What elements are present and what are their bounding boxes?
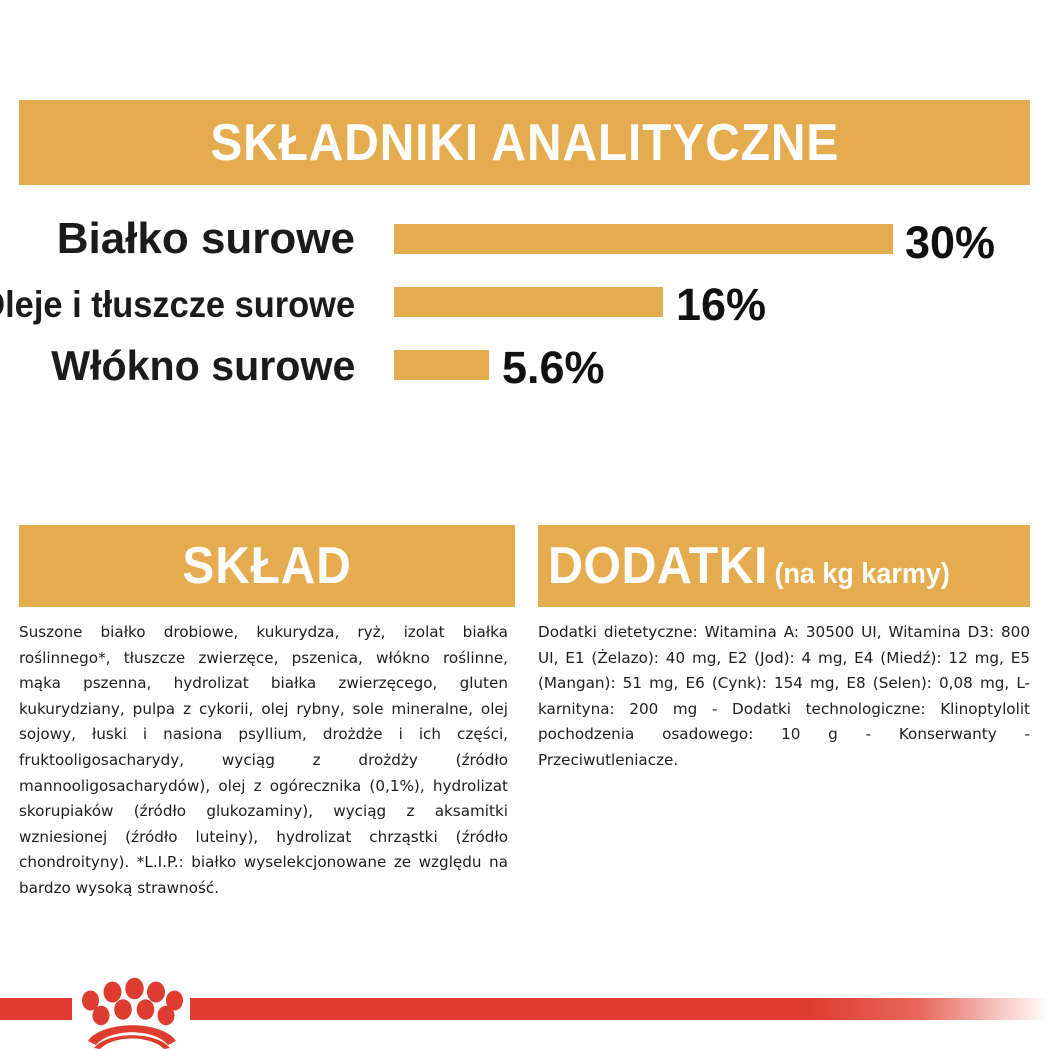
analytical-constituents-title: SKŁADNIKI ANALITYCZNE xyxy=(210,117,839,169)
chart-row: Oleje i tłuszcze surowe 16% xyxy=(0,268,1049,330)
bar-track xyxy=(394,287,663,317)
bar-track xyxy=(394,224,893,254)
royal-canin-crown-icon xyxy=(72,975,190,1049)
bar-fill xyxy=(394,224,893,254)
bar-value: 30% xyxy=(905,220,995,265)
additives-banner: DODATKI (na kg karmy) xyxy=(538,525,1030,607)
bar-value: 5.6% xyxy=(502,345,605,390)
footer-bar-right xyxy=(190,998,1049,1020)
analytical-constituents-banner: SKŁADNIKI ANALITYCZNE xyxy=(19,100,1030,185)
composition-title: SKŁAD xyxy=(182,540,351,592)
additives-title: DODATKI xyxy=(548,540,768,592)
bar-label: Oleje i tłuszcze surowe xyxy=(0,286,355,323)
product-label-page: SKŁADNIKI ANALITYCZNE Białko surowe 30% … xyxy=(0,0,1049,1049)
bar-value: 16% xyxy=(676,282,766,327)
chart-row: Włókno surowe 5.6% xyxy=(0,331,1049,393)
additives-subtitle: (na kg karmy) xyxy=(774,560,949,589)
bar-track xyxy=(394,350,489,380)
analytical-constituents-chart: Białko surowe 30% Oleje i tłuszcze surow… xyxy=(0,205,1049,400)
bar-fill xyxy=(394,287,663,317)
footer xyxy=(0,975,1049,1049)
composition-text: Suszone białko drobiowe, kukurydza, ryż,… xyxy=(19,620,508,902)
composition-banner: SKŁAD xyxy=(19,525,515,607)
additives-title-group: DODATKI (na kg karmy) xyxy=(548,540,950,592)
chart-row: Białko surowe 30% xyxy=(0,205,1049,267)
bar-label: Włókno surowe xyxy=(51,345,355,387)
additives-text: Dodatki dietetyczne: Witamina A: 30500 U… xyxy=(538,620,1030,774)
bar-label: Białko surowe xyxy=(57,217,355,261)
footer-bar-left xyxy=(0,998,72,1020)
bar-fill xyxy=(394,350,489,380)
